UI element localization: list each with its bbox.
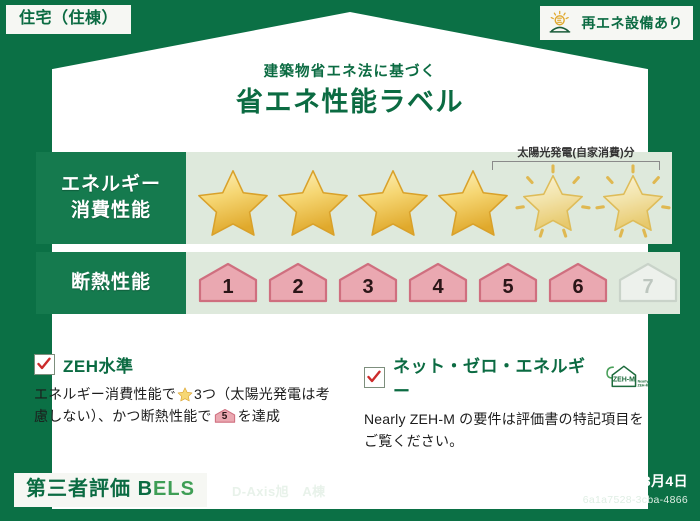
star-icon-filled-3 [354,163,432,239]
insulation-level-2-text: 2 [292,276,303,305]
net-zero-energy-column: ネット・ゼロ・エネルギー ZEH-M Nearly ZEH-M Nearly Z… [350,352,666,452]
insulation-level-3: 3 [336,261,400,305]
label-footer: 第三者評価 BELS D-Axis旭 A棟 評価日 2026年3月4日 6a1a… [0,465,700,521]
net-zero-heading-row: ネット・ゼロ・エネルギー ZEH-M Nearly ZEH-M [364,352,652,402]
bels-prefix-text: 第三者評価 [26,478,138,500]
evaluation-date: 評価日 2026年3月4日 [548,471,688,491]
insulation-level-6-text: 6 [572,276,583,305]
insulation-performance-label-cell: 断熱性能 [36,252,186,314]
insulation-level-3-text: 3 [362,276,373,305]
star-icon-solar-6 [594,163,672,239]
dwelling-type-text: 住宅（住棟） [19,10,118,27]
insulation-performance-row: 断熱性能 1 2 [36,252,664,314]
zeh-text-a: エネルギー消費性能で [34,386,176,402]
net-zero-heading: ネット・ゼロ・エネルギー [393,352,589,402]
zeh-standard-heading-row: ZEH水準 [34,352,336,377]
insulation-level-7-text: 7 [642,276,653,305]
zeh-text-b: 3つ（太陽光発電 [194,386,301,402]
svg-text:ZEH-M: ZEH-M [613,377,635,384]
insulation-level-strip: 1 2 3 [196,261,680,305]
net-zero-checkbox [364,367,385,388]
dwelling-type-chip: 住宅（住棟） [6,5,131,34]
renewable-equipment-text: 再エネ設備あり [582,13,684,33]
insulation-label-text: 断熱性能 [71,270,151,296]
energy-label-line1: エネルギー [61,172,161,198]
zeh-standard-checkbox [34,354,55,375]
energy-performance-label: 住宅（住棟） 再エネ設備あり 建築物省エネ法に基づく 省エネ性能ラベル [0,0,700,521]
zeh-m-logo: ZEH-M Nearly ZEH-M [602,363,652,391]
insulation-level-5: 5 [476,261,540,305]
insulation-level-4-text: 4 [432,276,443,305]
insulation-level-7: 7 [616,261,680,305]
title-main: 省エネ性能ラベル [0,86,700,118]
insulation-level-5-text: 5 [502,276,513,305]
star-icon-filled-1 [194,163,272,239]
star-icon-filled-2 [274,163,352,239]
bels-badge: 第三者評価 BELS [14,473,207,507]
evaluation-id: 6a1a7528-3cba-4866 [548,494,688,506]
insulation-level-6: 6 [546,261,610,305]
insulation-level-4: 4 [406,261,470,305]
renewable-equipment-chip: 再エネ設備あり [540,6,694,40]
performance-rows: エネルギー 消費性能 [36,152,664,314]
compliance-info-block: ZEH水準 エネルギー消費性能で3つ（太陽光発電は考慮しない）、かつ断熱性能で5… [34,352,666,452]
star-strip [194,163,672,239]
evaluation-meta: 評価日 2026年3月4日 6a1a7528-3cba-4866 [548,471,688,506]
zeh-standard-heading: ZEH水準 [63,352,134,377]
house-badge-icon-inline: 5 [214,408,236,424]
energy-performance-label-cell: エネルギー 消費性能 [36,152,186,244]
insulation-level-1-text: 1 [222,276,233,305]
building-name: D-Axis旭 A棟 [232,481,326,500]
insulation-level-1: 1 [196,261,260,305]
energy-performance-row: エネルギー 消費性能 [36,152,664,244]
zeh-text-d: を達成 [238,408,281,424]
check-icon [37,357,51,371]
insulation-level-2: 2 [266,261,330,305]
net-zero-description: Nearly ZEH-M の要件は評価書の特記項目をご覧ください。 [364,409,652,452]
bels-els-letters: ELS [153,478,195,500]
label-title-block: 建築物省エネ法に基づく 省エネ性能ラベル [0,63,700,118]
svg-text:ZEH-M: ZEH-M [637,383,648,387]
house-badge-inline-text: 5 [214,409,236,424]
star-icon-solar-5 [514,163,592,239]
energy-stars-cell: 太陽光発電(自家消費)分 [186,152,672,244]
zeh-standard-column: ZEH水準 エネルギー消費性能で3つ（太陽光発電は考慮しない）、かつ断熱性能で5… [34,352,350,452]
star-icon-filled-4 [434,163,512,239]
bels-b-letter: B [138,478,153,500]
zeh-standard-description: エネルギー消費性能で3つ（太陽光発電は考慮しない）、かつ断熱性能で5を達成 [34,384,336,427]
star-icon-inline [177,386,193,402]
check-icon [367,370,381,384]
title-subtitle: 建築物省エネ法に基づく [0,63,700,82]
energy-label-line2: 消費性能 [71,198,151,224]
insulation-levels-cell: 1 2 3 [186,252,680,314]
solar-sun-icon [548,10,575,35]
